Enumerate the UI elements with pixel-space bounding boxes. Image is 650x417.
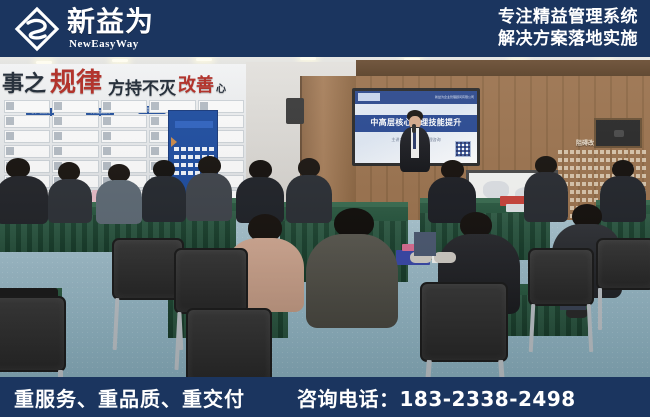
chair-back	[528, 248, 594, 306]
poster-cell	[4, 130, 50, 143]
service-slogan: 重服务、重品质、重交付	[0, 383, 245, 412]
attendee	[96, 164, 142, 220]
attendee-torso	[142, 176, 186, 222]
ceiling-light	[300, 57, 316, 60]
ceiling-light	[196, 58, 212, 61]
poster-cell	[101, 145, 147, 158]
poster-cell	[4, 115, 50, 128]
poster-cell	[4, 145, 50, 158]
wall-headline-part-5: 心	[216, 80, 226, 95]
poster-cell	[52, 115, 98, 128]
supply-box	[506, 204, 526, 212]
culture-line	[558, 150, 648, 154]
attendee	[48, 162, 92, 220]
promo-poster: 新益为 NewEasyWay 专注精益管理系统 解决方案落地实施 事之 规律 方…	[0, 0, 650, 417]
poster-cell	[101, 115, 147, 128]
contact-label: 咨询电话：	[297, 387, 400, 411]
wall-headline-part-4: 改善	[178, 71, 214, 97]
attendee-jacket	[306, 234, 398, 328]
neweasyway-diamond-logo-icon	[14, 6, 60, 52]
ceiling-light	[112, 59, 128, 62]
header-slogan-line1: 专注精益管理系统	[498, 7, 638, 29]
poster-cell	[4, 100, 50, 113]
attendee-torso	[48, 179, 92, 223]
attendee	[186, 156, 232, 220]
chair-back	[420, 282, 508, 362]
poster-cell	[101, 130, 147, 143]
attendee	[428, 160, 476, 220]
board-row	[174, 147, 214, 151]
wall-headline-part-2: 规律	[50, 62, 102, 99]
wood-wall-header	[356, 60, 650, 76]
header-slogan-line2: 解决方案落地实施	[498, 29, 638, 51]
ceiling-speaker	[286, 98, 304, 124]
chair-back	[596, 238, 650, 290]
training-classroom-photo: 事之 规律 方持不灭 改善 心 电子电器类 机械加工类 食品饮料类 汽车零部件类…	[0, 52, 650, 382]
wall-headline-part-1: 事之	[2, 66, 46, 98]
slide-meta: 新益为企业管理顾问有限公司	[435, 95, 474, 99]
header-slogan: 专注精益管理系统 解决方案落地实施	[498, 7, 650, 51]
presenter	[398, 110, 432, 172]
poster-cell	[101, 100, 147, 113]
slide-logo-icon	[358, 93, 380, 101]
board-header	[175, 121, 213, 128]
board-arrow-icon	[171, 137, 177, 147]
slide-top-bar: 新益为企业管理顾问有限公司	[355, 91, 477, 104]
contact-phone: 183-2338-2498	[400, 387, 576, 411]
brand-name-en: NewEasyWay	[67, 39, 154, 50]
chair-back	[0, 296, 66, 372]
chair-leg	[598, 288, 602, 330]
attendee	[0, 158, 48, 220]
poster-cell	[52, 130, 98, 143]
poster-cell	[52, 145, 98, 158]
chair-back	[174, 248, 248, 314]
brand-text: 新益为 NewEasyWay	[67, 8, 154, 50]
contact-info[interactable]: 咨询电话：183-2338-2498	[297, 383, 576, 412]
attendee	[142, 160, 186, 220]
attendee-legs	[414, 232, 436, 256]
attendee-torso	[96, 180, 142, 224]
wall-mounted-monitor	[594, 118, 642, 148]
footer-bar: 重服务、重品质、重交付 咨询电话：183-2338-2498	[0, 377, 650, 417]
attendee-hair	[6, 158, 30, 178]
shoe	[434, 252, 456, 263]
wall-headline-part-3: 方持不灭	[108, 74, 176, 99]
microphone-icon	[412, 124, 416, 133]
attendee	[306, 208, 398, 326]
brand-name-cn: 新益为	[67, 8, 154, 36]
poster-cell	[52, 100, 98, 113]
brand-logo[interactable]: 新益为 NewEasyWay	[0, 6, 154, 52]
attendee-torso	[0, 176, 48, 224]
chair-back	[186, 308, 272, 382]
attendee	[236, 160, 284, 220]
qr-code-icon	[455, 141, 471, 157]
header-bar: 新益为 NewEasyWay 专注精益管理系统 解决方案落地实施	[0, 0, 650, 57]
